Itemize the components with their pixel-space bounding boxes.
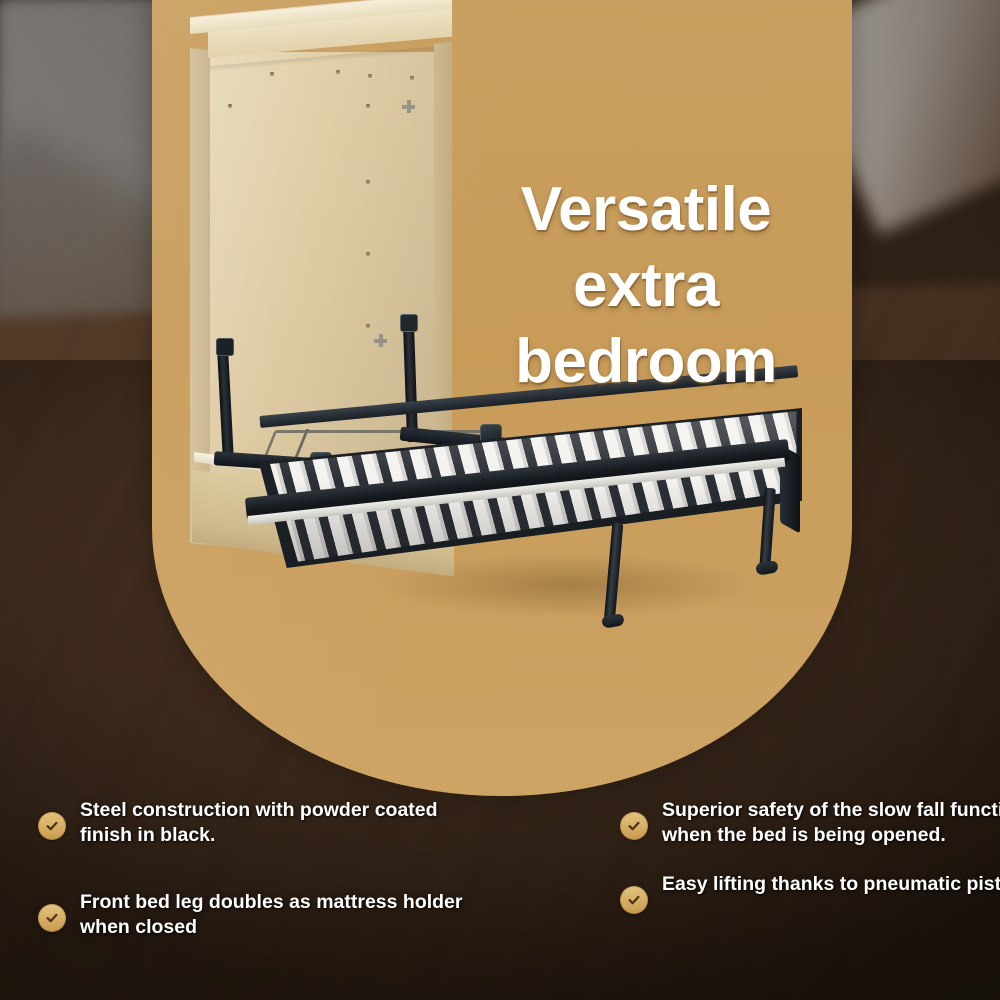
feature-item: Steel construction with powder coated fi… (38, 798, 468, 848)
feature-item: Easy lifting thanks to pneumatic pistons (620, 872, 1000, 914)
feature-bullets: Steel construction with powder coated fi… (0, 798, 1000, 1000)
cabinet-screw-hole (336, 70, 340, 74)
check-circle-icon (38, 904, 66, 932)
feature-text: Steel construction with powder coated fi… (80, 798, 468, 848)
feature-item: Front bed leg doubles as mattress holder… (38, 890, 468, 940)
cabinet-screw-hole (270, 72, 274, 76)
headline-line-2: extra (440, 248, 852, 324)
feature-text: Front bed leg doubles as mattress holder… (80, 890, 468, 940)
check-circle-icon (620, 812, 648, 840)
headline: Versatile extra bedroom (440, 172, 852, 400)
headline-line-1: Versatile (440, 172, 852, 248)
check-circle-icon (620, 886, 648, 914)
cabinet-fitting-icon (402, 100, 415, 113)
cabinet-screw-hole (366, 252, 370, 256)
feature-item: Superior safety of the slow fall functio… (620, 798, 1000, 848)
cabinet-screw-hole (228, 104, 232, 108)
cabinet-screw-hole (410, 76, 414, 80)
cabinet-screw-hole (366, 104, 370, 108)
check-circle-icon (38, 812, 66, 840)
feature-column-left: Steel construction with powder coated fi… (38, 798, 468, 964)
piston-mount-left (216, 338, 234, 356)
piston-mount-right (400, 314, 418, 332)
headline-line-3: bedroom (440, 324, 852, 400)
product-feature-graphic: Versatile extra bedroom Steel constructi… (0, 0, 1000, 1000)
feature-text: Easy lifting thanks to pneumatic pistons (662, 872, 1000, 897)
cabinet-screw-hole (366, 324, 370, 328)
feature-text: Superior safety of the slow fall functio… (662, 798, 1000, 848)
cabinet-screw-hole (368, 74, 372, 78)
cabinet-fitting-icon (374, 334, 387, 347)
cabinet-screw-hole (366, 180, 370, 184)
feature-column-right: Superior safety of the slow fall functio… (620, 798, 1000, 938)
